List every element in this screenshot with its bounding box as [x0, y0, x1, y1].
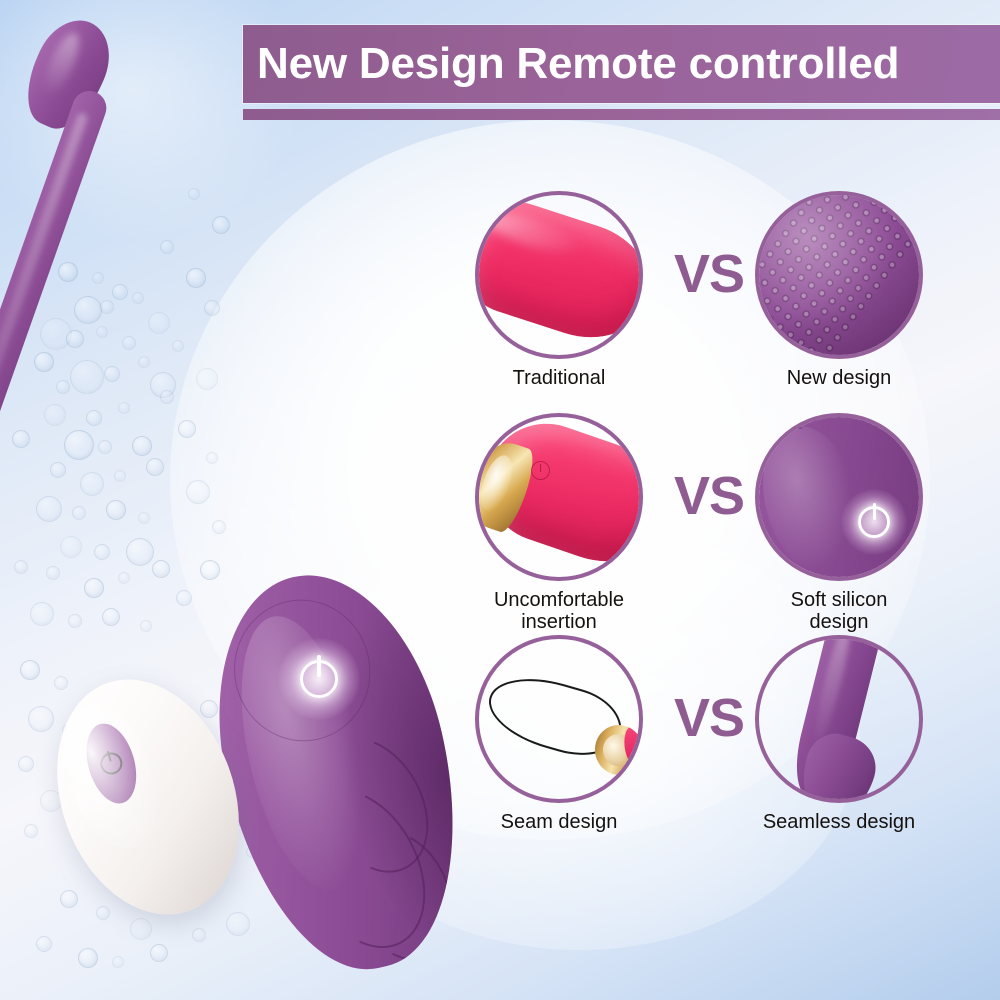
vs-label: VS: [661, 465, 757, 527]
power-icon-stem: [317, 655, 321, 677]
seam-design-circle: [475, 635, 643, 803]
header-banner: New Design Remote controlled: [243, 25, 1000, 103]
remote-power-button: [78, 718, 145, 810]
comparison-row: VS Traditional New design: [465, 185, 1000, 403]
banner-title: New Design Remote controlled: [257, 39, 899, 89]
power-icon-stem: [873, 503, 876, 520]
label-seamless-design: Seamless design: [724, 811, 954, 833]
soft-silicon-body-illustration: [755, 413, 923, 581]
vs-label: VS: [661, 243, 757, 305]
product-power-icon: [292, 652, 346, 706]
texture-shading: [755, 191, 923, 359]
label-line-1: Soft silicon: [791, 589, 888, 611]
dotted-texture-illustration: [755, 191, 923, 359]
label-traditional: Traditional: [444, 367, 674, 389]
body-groove: [755, 413, 806, 452]
label-uncomfortable-insertion: Uncomfortable insertion: [444, 589, 674, 633]
label-line-1: Uncomfortable: [494, 589, 624, 611]
uncomfortable-insertion-circle: [475, 413, 643, 581]
label-seam-design: Seam design: [444, 811, 674, 833]
comparison-grid: VS Traditional New design VS: [465, 185, 1000, 835]
banner-underline: [243, 109, 1000, 120]
comparison-row: VS Uncomfortable insertion Soft silicon: [465, 407, 1000, 625]
label-soft-silicon-design: Soft silicon design: [724, 589, 954, 633]
power-icon: [851, 499, 897, 545]
power-icon: [531, 461, 550, 480]
pink-tip-illustration: [475, 191, 643, 355]
soft-silicon-circle: [755, 413, 923, 581]
product-tail-stem: [0, 86, 111, 578]
new-design-texture-circle: [755, 191, 923, 359]
product-marketing-image: New Design Remote controlled VS Traditio…: [0, 0, 1000, 1000]
comparison-row: VS Seam design Seamless design: [465, 629, 1000, 847]
power-icon: [98, 750, 125, 777]
cap-pink-edge: [621, 723, 643, 773]
label-new-design: New design: [724, 367, 954, 389]
power-icon-ring: [98, 750, 125, 777]
vs-label: VS: [661, 687, 757, 749]
power-icon-stem: [107, 751, 112, 762]
seamless-design-circle: [755, 635, 923, 803]
traditional-tip-circle: [475, 191, 643, 359]
